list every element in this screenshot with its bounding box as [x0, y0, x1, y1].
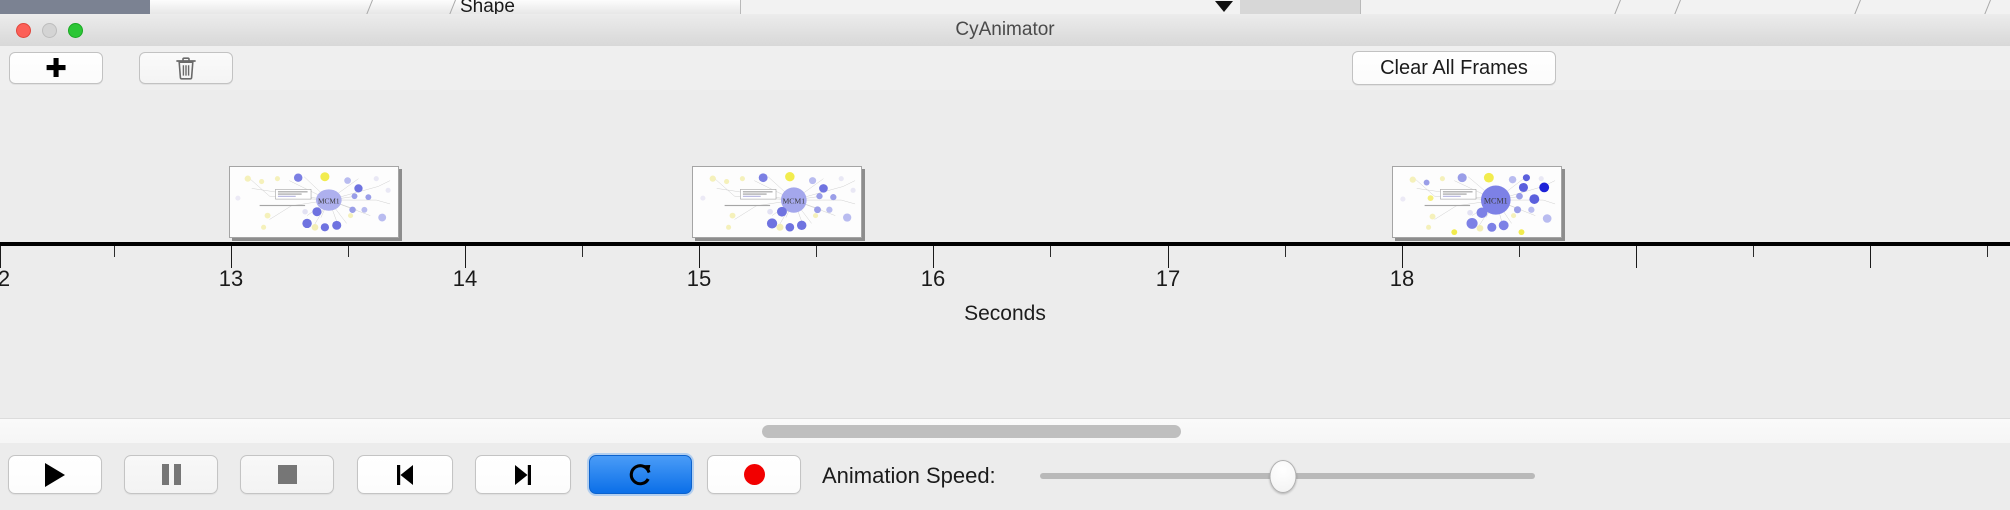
- background-segment: [1300, 0, 1361, 14]
- skip-to-start-icon: [394, 463, 416, 487]
- slider-thumb[interactable]: [1269, 460, 1296, 493]
- skip-to-end-icon: [512, 463, 534, 487]
- tick-minor: [1519, 246, 1520, 257]
- timeline-frame-thumbnail[interactable]: MCM1: [229, 166, 399, 238]
- playback-control-bar: Animation Speed:: [0, 443, 2010, 510]
- animation-speed-slider[interactable]: [1040, 473, 1535, 479]
- tick-minor: [1753, 246, 1754, 257]
- network-thumbnail-1: MCM1: [230, 167, 398, 237]
- tick-minor: [114, 246, 115, 257]
- zoom-button[interactable]: [68, 23, 83, 38]
- tick-major: [1402, 246, 1403, 268]
- play-icon: [45, 463, 65, 487]
- tick-label: 14: [453, 266, 477, 292]
- tick-label: 18: [1390, 266, 1414, 292]
- pause-icon: [162, 464, 181, 485]
- plus-icon: ✚: [45, 55, 67, 81]
- timeline-panel: MCM1: [0, 90, 2010, 408]
- tick-major: [1870, 246, 1871, 268]
- timeline-axis-title: Seconds: [0, 302, 2010, 326]
- tick-minor: [582, 246, 583, 257]
- delete-frame-button[interactable]: [139, 52, 233, 84]
- stop-icon: [278, 465, 297, 484]
- svg-text:MCM1: MCM1: [1484, 197, 1508, 206]
- tick-major: [465, 246, 466, 268]
- frames-track[interactable]: MCM1: [0, 90, 2010, 242]
- window-title: CyAnimator: [0, 14, 2010, 46]
- tick-label: 2: [0, 266, 10, 292]
- background-segment: [390, 0, 471, 14]
- horizontal-scrollbar[interactable]: [0, 418, 2010, 444]
- loop-icon: [628, 462, 654, 488]
- timeline-ticks: [0, 246, 2010, 268]
- svg-text:MCM1: MCM1: [318, 198, 340, 206]
- background-mark: [1672, 0, 1681, 14]
- skip-to-start-button[interactable]: [357, 455, 453, 494]
- background-segment: [560, 0, 741, 14]
- toolbar: ✚ Clear All Frames: [0, 46, 2010, 91]
- background-segment: [1240, 0, 1301, 14]
- record-button[interactable]: [707, 455, 801, 494]
- clear-all-frames-label: Clear All Frames: [1380, 57, 1528, 80]
- background-segment: [150, 0, 261, 14]
- clear-all-frames-button[interactable]: Clear All Frames: [1352, 51, 1556, 85]
- pause-button[interactable]: [124, 455, 218, 494]
- minimize-button[interactable]: [42, 23, 57, 38]
- background-mark: [1982, 0, 1991, 14]
- window-traffic-lights: [16, 23, 83, 38]
- tick-label: 16: [921, 266, 945, 292]
- tick-minor: [348, 246, 349, 257]
- close-button[interactable]: [16, 23, 31, 38]
- timeline-frame-thumbnail[interactable]: MCM1: [692, 166, 862, 238]
- record-icon: [744, 464, 765, 485]
- timeline-tick-labels: 2 13 14 15 16 17 18: [0, 266, 2010, 300]
- svg-text:MCM1: MCM1: [782, 197, 805, 206]
- tick-label: 15: [687, 266, 711, 292]
- tick-minor: [1285, 246, 1286, 257]
- scrollbar-thumb[interactable]: [762, 425, 1181, 438]
- animation-speed-label: Animation Speed:: [822, 456, 996, 495]
- tick-label: 13: [219, 266, 243, 292]
- trash-icon: [176, 57, 196, 80]
- cyanimator-window: Shape CyAnimator ✚ Clea: [0, 0, 2010, 510]
- timeline-frame-thumbnail[interactable]: MCM1: [1392, 166, 1562, 238]
- loop-button[interactable]: [589, 455, 692, 494]
- background-cursor-icon: [1215, 1, 1233, 12]
- background-window-strip: Shape: [0, 0, 2010, 14]
- background-window-label: Shape: [460, 0, 515, 14]
- background-mark: [1612, 0, 1621, 14]
- tick-minor: [816, 246, 817, 257]
- background-titlebar-dark: [0, 0, 150, 14]
- tick-major: [0, 246, 1, 268]
- background-mark: [1852, 0, 1861, 14]
- skip-to-end-button[interactable]: [475, 455, 571, 494]
- window-title-bar: CyAnimator: [0, 14, 2010, 47]
- add-frame-button[interactable]: ✚: [9, 52, 103, 84]
- tick-major: [1168, 246, 1169, 268]
- network-thumbnail-3: MCM1: [1393, 167, 1561, 237]
- play-button[interactable]: [8, 455, 102, 494]
- tick-label: 17: [1156, 266, 1180, 292]
- tick-minor: [1050, 246, 1051, 257]
- tick-major: [699, 246, 700, 268]
- network-thumbnail-2: MCM1: [693, 167, 861, 237]
- tick-major: [1636, 246, 1637, 268]
- stop-button[interactable]: [240, 455, 334, 494]
- tick-major: [231, 246, 232, 268]
- tick-major: [933, 246, 934, 268]
- tick-minor: [1987, 246, 1988, 257]
